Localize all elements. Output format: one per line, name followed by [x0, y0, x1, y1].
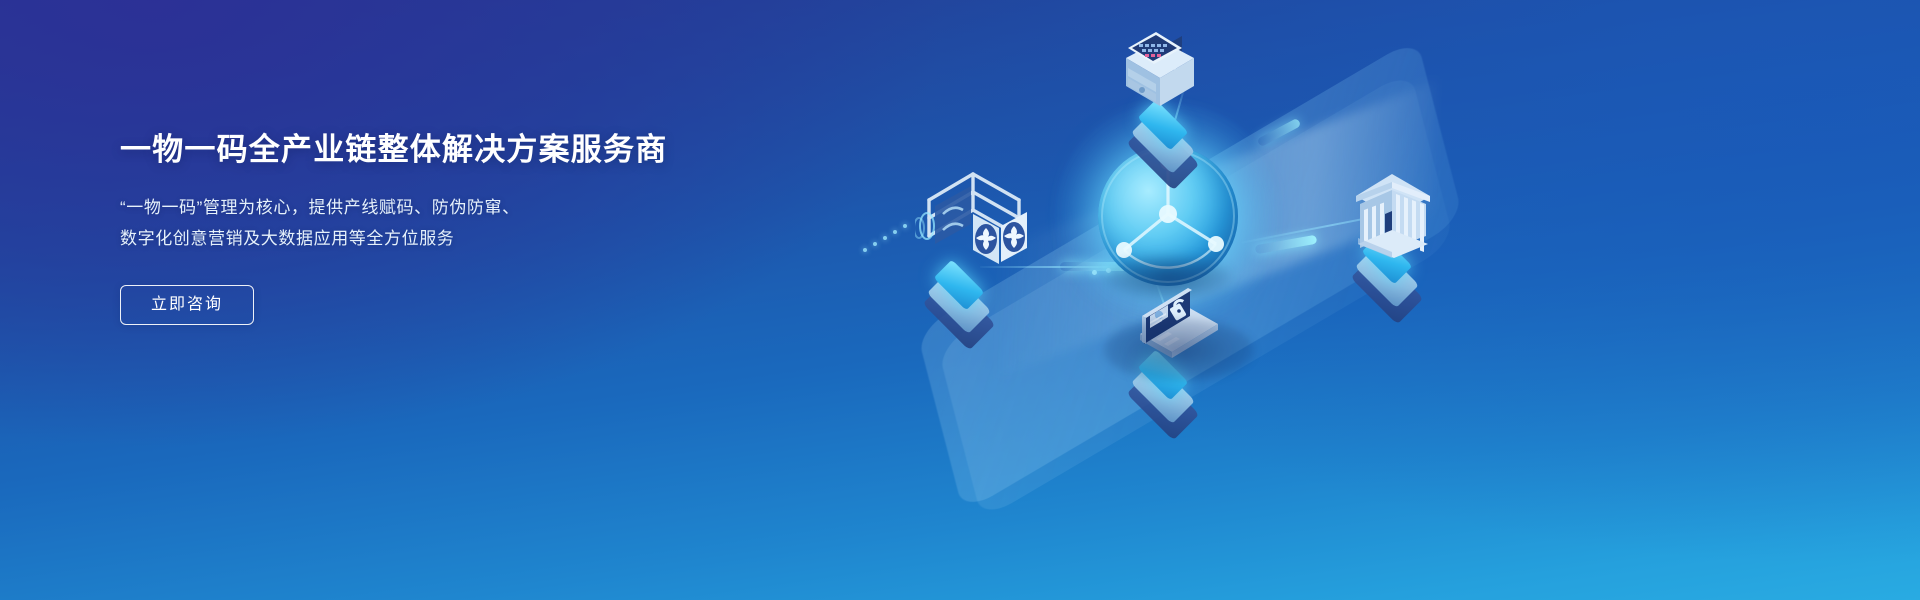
isometric-iot-network-illustration: [860, 0, 1920, 600]
laptop-shadow: [1104, 318, 1254, 382]
hero-subtitle: “一物一码”管理为核心，提供产线赋码、防伪防窜、 数字化创意营销及大数据应用等全…: [120, 192, 760, 254]
hero-copy-block: 一物一码全产业链整体解决方案服务商 “一物一码”管理为核心，提供产线赋码、防伪防…: [120, 130, 760, 325]
rack-particle-spray: [863, 190, 943, 260]
consult-now-button[interactable]: 立即咨询: [120, 285, 254, 325]
pos-terminal-icon: [1106, 20, 1226, 130]
page-title: 一物一码全产业链整体解决方案服务商: [120, 130, 760, 170]
pedestal-server-rack: [928, 262, 992, 304]
hero-subtitle-line-1: “一物一码”管理为核心，提供产线赋码、防伪防窜、: [120, 192, 760, 223]
hero-subtitle-line-2: 数字化创意营销及大数据应用等全方位服务: [120, 223, 760, 254]
bank-building-glyph: [1330, 152, 1450, 262]
bank-building-icon: [1330, 152, 1450, 262]
pos-terminal-glyph: [1106, 20, 1226, 130]
hero-banner: 一物一码全产业链整体解决方案服务商 “一物一码”管理为核心，提供产线赋码、防伪防…: [0, 0, 1920, 600]
